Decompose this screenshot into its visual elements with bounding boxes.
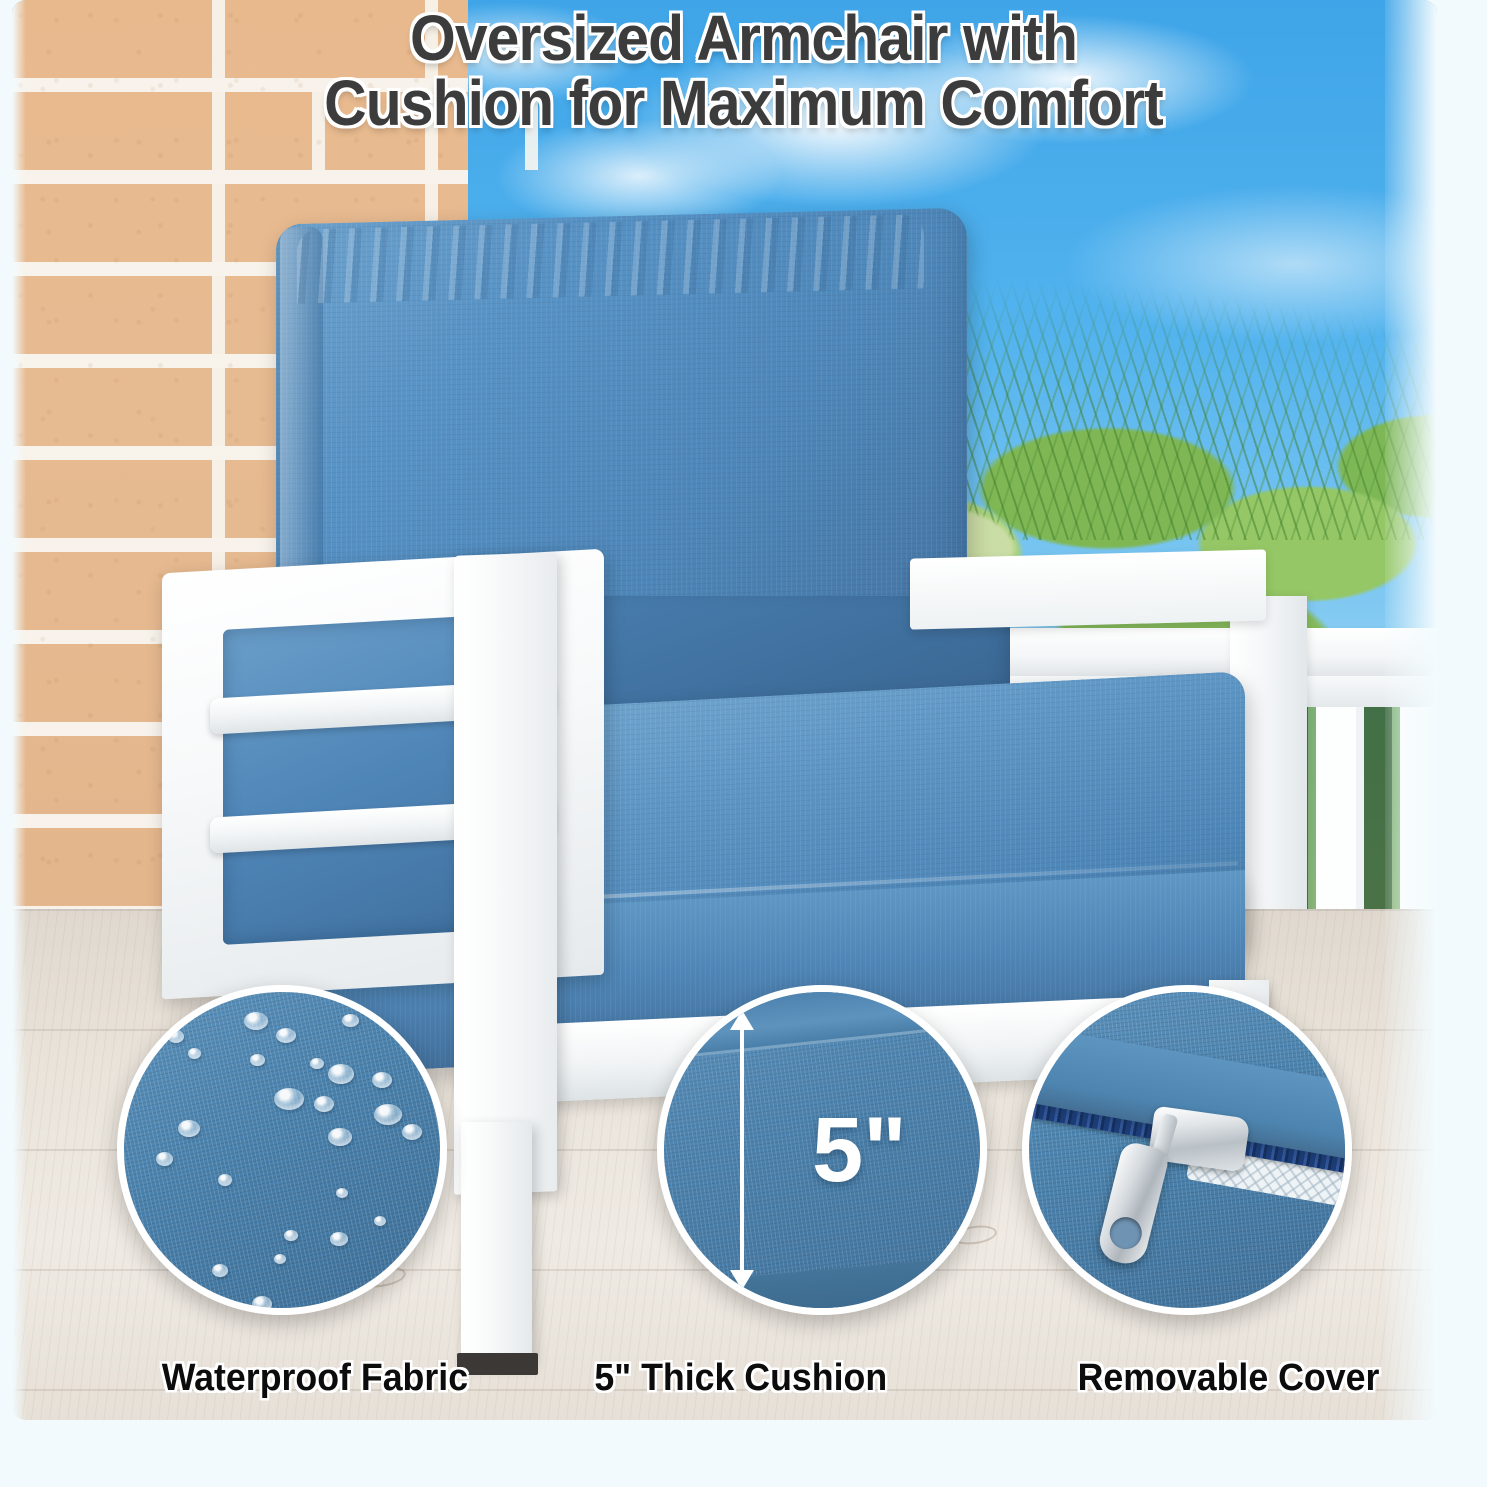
water-droplet	[178, 1120, 200, 1137]
water-droplet	[374, 1104, 402, 1125]
water-droplet	[250, 1054, 265, 1066]
water-droplet	[276, 1028, 296, 1043]
water-droplet	[402, 1124, 422, 1140]
callout-cushion-thickness: 5"	[657, 985, 987, 1315]
product-photo: 5"	[12, 0, 1437, 1420]
callout-removable-cover	[1022, 985, 1352, 1315]
water-droplet	[372, 1072, 392, 1088]
right-edge-fade	[1385, 0, 1437, 1420]
armrest-front-post	[454, 552, 557, 1195]
caption-waterproof-fabric: Waterproof Fabric	[162, 1357, 468, 1400]
water-droplet	[328, 1128, 352, 1146]
chair-foot-cap	[457, 1353, 538, 1374]
water-droplet	[310, 1058, 324, 1069]
water-droplet	[218, 1174, 232, 1186]
water-droplet	[168, 1030, 184, 1043]
water-droplet	[252, 1296, 272, 1312]
left-edge-fade	[12, 0, 26, 1420]
water-droplet	[274, 1088, 304, 1110]
right-armrest-bar	[910, 549, 1266, 629]
callout-waterproof-fabric	[117, 985, 447, 1315]
water-droplet	[328, 1064, 354, 1084]
water-droplet	[212, 1264, 228, 1277]
water-droplet	[314, 1096, 334, 1112]
back-cushion-pleats	[297, 214, 924, 303]
water-droplet	[180, 1290, 202, 1307]
chair-leg-front	[461, 1122, 532, 1363]
water-droplet	[284, 1230, 298, 1241]
dimension-label: 5"	[812, 1104, 907, 1196]
product-infographic: 5" Oversized Armchair with Cushion for M…	[0, 0, 1487, 1487]
water-droplet	[188, 1048, 201, 1059]
water-droplet	[244, 1012, 268, 1030]
water-droplet	[342, 1014, 359, 1027]
water-droplet	[374, 1216, 386, 1226]
water-droplet	[156, 1152, 173, 1166]
dimension-arrow-icon	[740, 1026, 744, 1274]
water-droplet	[274, 1254, 286, 1264]
water-droplet	[336, 1188, 348, 1198]
caption-thick-cushion: 5" Thick Cushion	[594, 1357, 887, 1400]
water-droplet	[330, 1232, 348, 1246]
caption-removable-cover: Removable Cover	[1078, 1357, 1380, 1400]
